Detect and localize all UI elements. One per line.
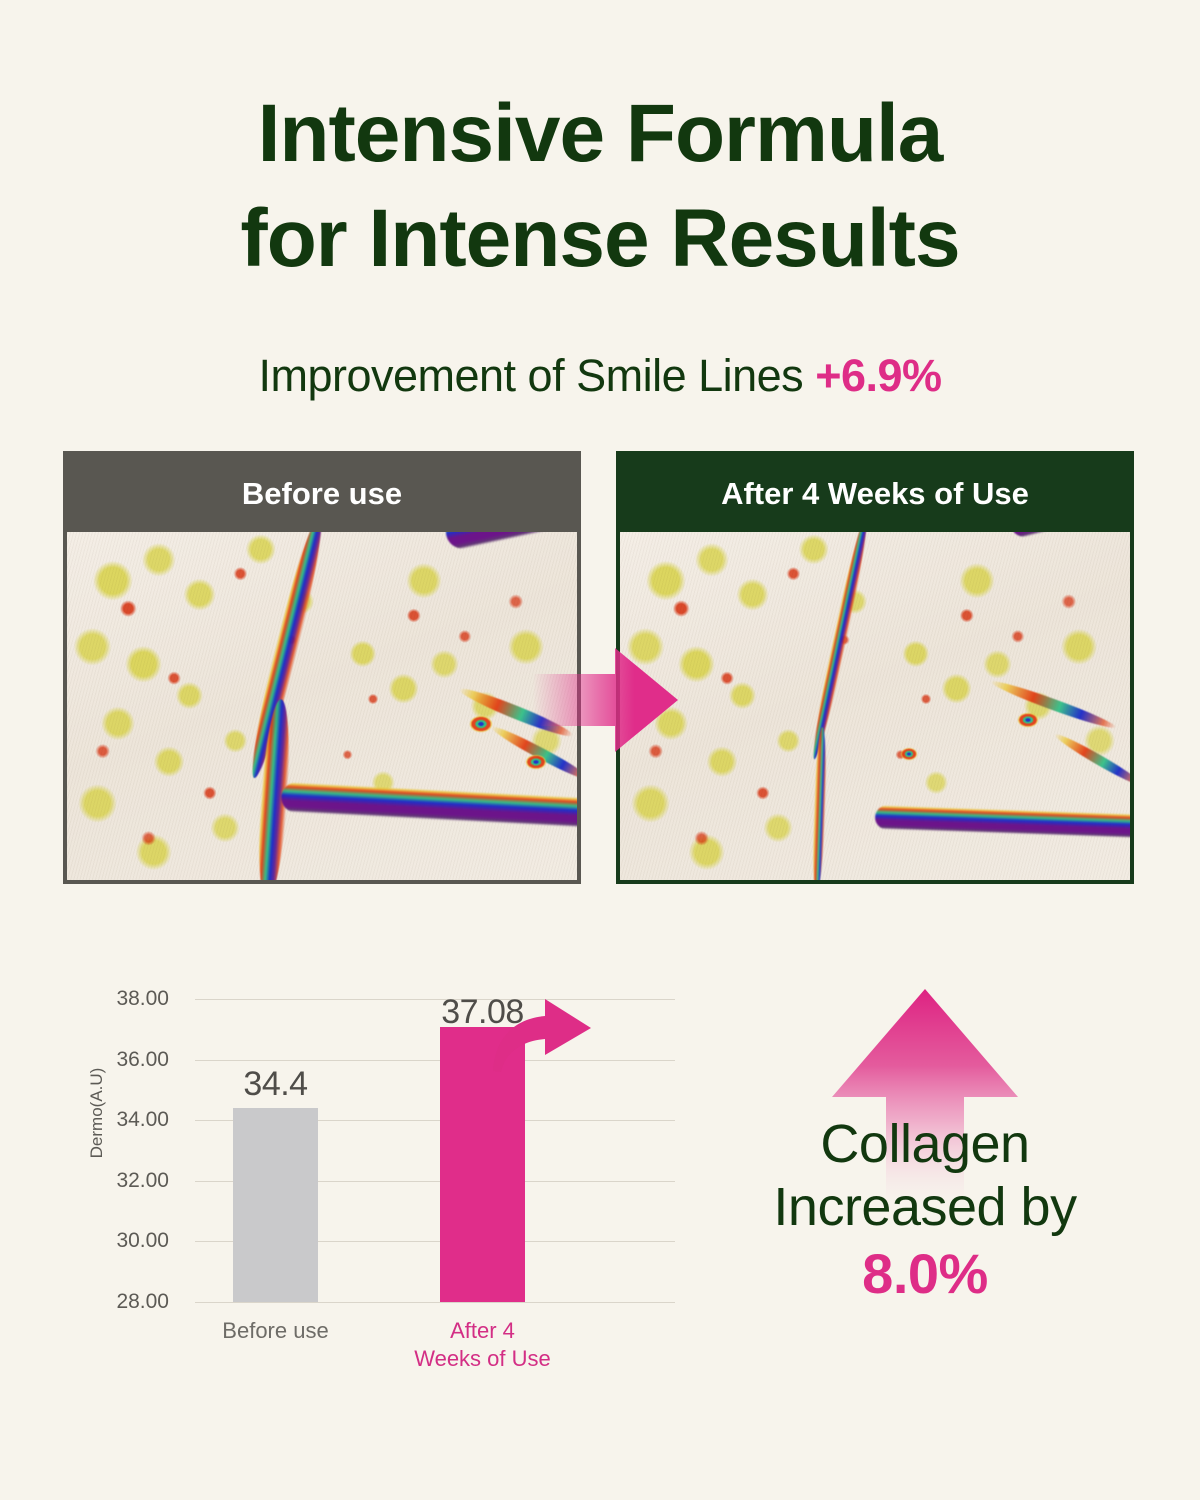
ytick-label-28: 28.00 <box>49 1290 169 1314</box>
gridline-36 <box>195 1060 675 1061</box>
cat-after-line1: After 4 <box>405 1317 560 1345</box>
collagen-callout: Collagen Increased by 8.0% <box>690 985 1160 1330</box>
wrinkle-blob-2 <box>526 755 546 769</box>
subtitle: Improvement of Smile Lines +6.9% <box>0 350 1200 402</box>
panel-after-header: After 4 Weeks of Use <box>620 455 1130 532</box>
ytick-label-34: 34.00 <box>49 1108 169 1132</box>
cat-after-line2: Weeks of Use <box>405 1345 560 1373</box>
collagen-line-2: Increased by <box>690 1176 1160 1239</box>
chart-plot-area: 38.00 36.00 34.00 32.00 30.00 28.00 34.4… <box>195 999 675 1302</box>
panel-after-use: After 4 Weeks of Use <box>616 451 1134 884</box>
collagen-percent: 8.0% <box>690 1242 1160 1307</box>
dermo-bar-chart: Dermo(A.U) 38.00 36.00 34.00 32.00 30.00… <box>75 985 695 1400</box>
ytick-label-38: 38.00 <box>49 987 169 1011</box>
skin-image-after <box>620 532 1130 880</box>
bar-value-before: 34.4 <box>213 1065 338 1104</box>
ytick-label-36: 36.00 <box>49 1048 169 1072</box>
bar-before-use <box>233 1108 318 1302</box>
chart-category-label-after: After 4 Weeks of Use <box>405 1317 560 1373</box>
ytick-label-30: 30.00 <box>49 1229 169 1253</box>
collagen-line-1: Collagen <box>690 1113 1160 1176</box>
subtitle-label: Improvement of Smile Lines <box>258 350 815 401</box>
collagen-text: Collagen Increased by 8.0% <box>690 1113 1160 1307</box>
wrinkle-blob-2 <box>901 748 917 760</box>
curved-up-right-arrow-icon <box>487 995 597 1073</box>
subtitle-percent: +6.9% <box>815 350 941 401</box>
panel-before-use: Before use <box>63 451 581 884</box>
gridline-28 <box>195 1302 675 1303</box>
cat-before-line1: Before use <box>222 1318 328 1343</box>
chart-category-label-before: Before use <box>198 1317 353 1345</box>
right-arrow-icon <box>533 648 678 752</box>
wrinkle-blob-1 <box>1018 713 1038 727</box>
headline-line-2: for Intense Results <box>0 187 1200 292</box>
page-title: Intensive Formula for Intense Results <box>0 82 1200 292</box>
ytick-label-32: 32.00 <box>49 1169 169 1193</box>
skin-image-before <box>67 532 577 880</box>
panel-before-header: Before use <box>67 455 577 532</box>
headline-line-1: Intensive Formula <box>0 82 1200 187</box>
